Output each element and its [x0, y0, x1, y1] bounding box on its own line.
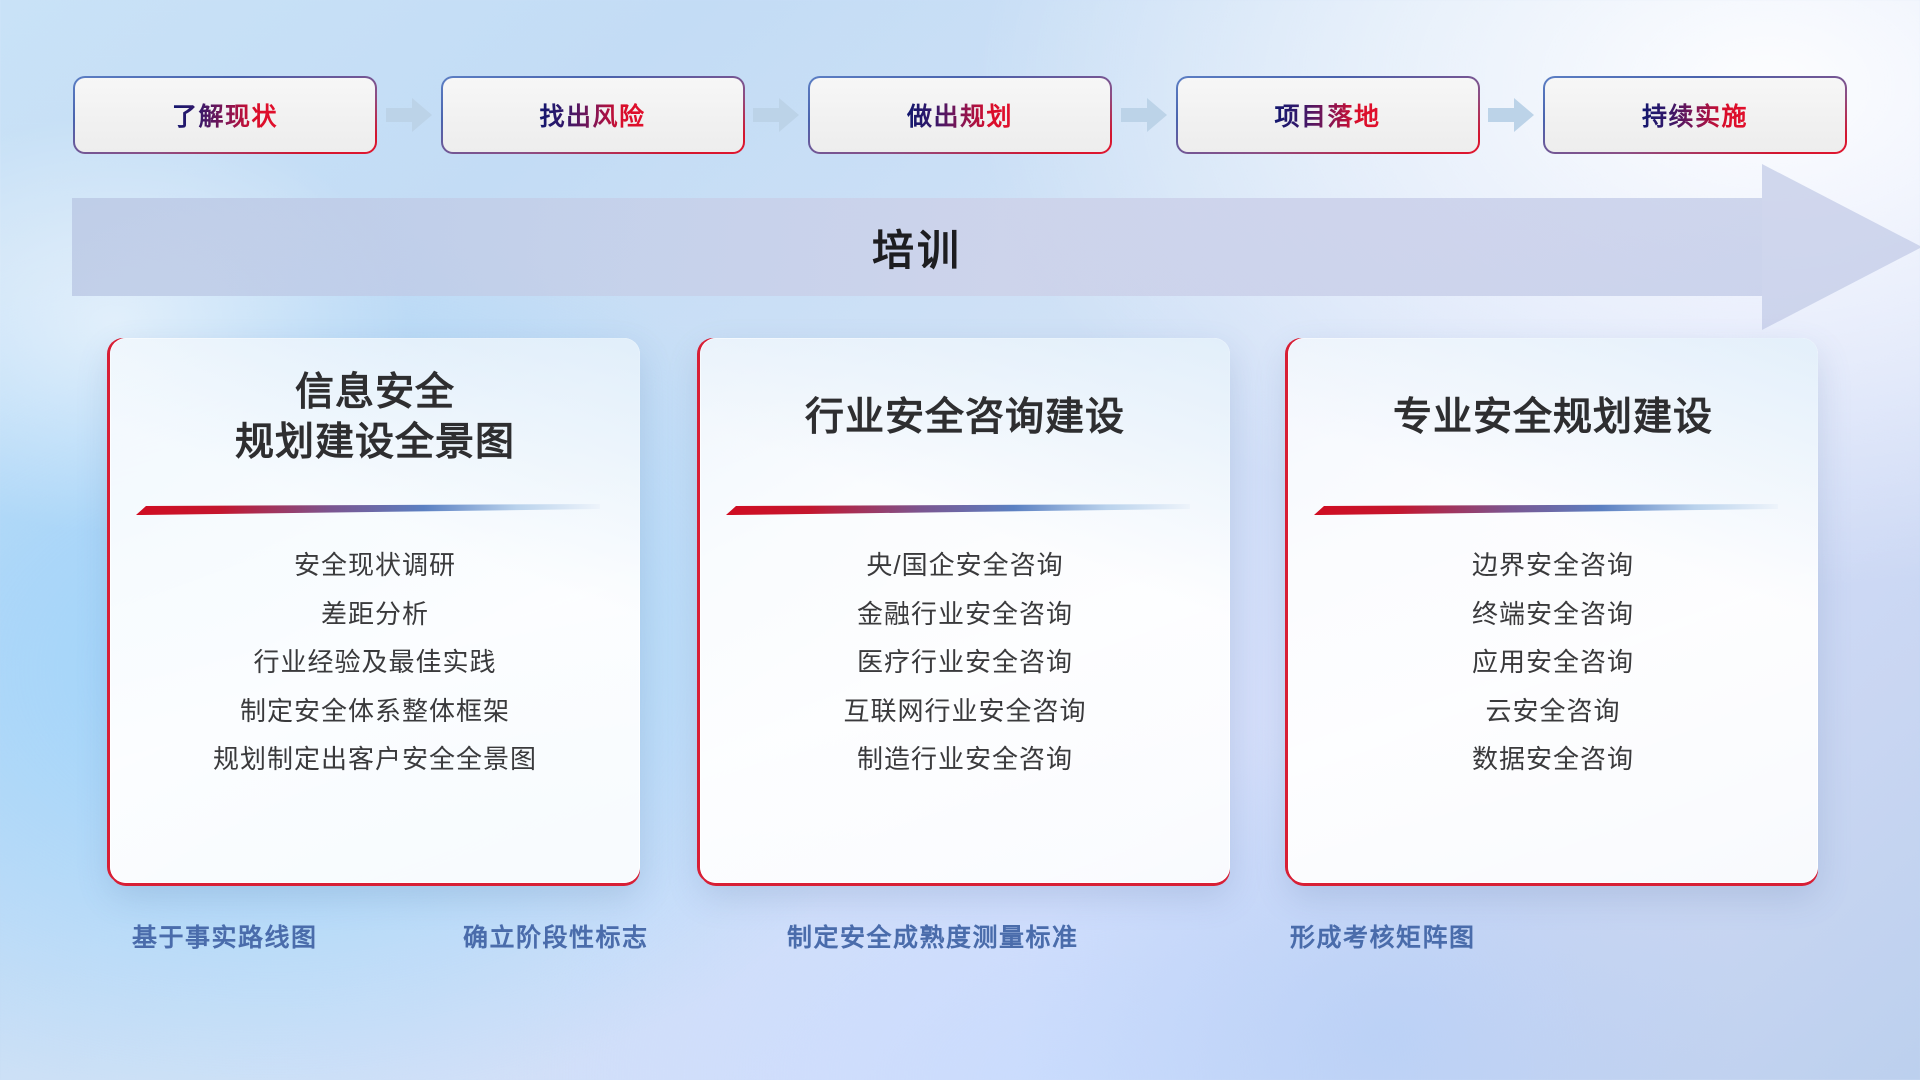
- card-3-list: 边界安全咨询 终端安全咨询 应用安全咨询 云安全咨询 数据安全咨询: [1288, 549, 1818, 776]
- banner-arrowhead-icon: [1762, 164, 1920, 330]
- card-industry-security-consulting[interactable]: 行业安全咨询建设 央/国企安全咨询 金融行业安全咨询: [700, 338, 1230, 883]
- caption-phase-milestones: 确立阶段性标志: [463, 918, 649, 954]
- caption-fact-based-roadmap: 基于事实路线图: [132, 918, 318, 954]
- card-professional-security-planning[interactable]: 专业安全规划建设 边界安全咨询 终端安全咨询: [1288, 338, 1818, 883]
- card-row: 信息安全 规划建设全景图 安全现状调研 差距分析: [0, 338, 1920, 883]
- card-3-item-4: 云安全咨询: [1485, 695, 1620, 728]
- process-step-5-label: 持续实施: [1642, 97, 1748, 133]
- card-1-item-2: 差距分析: [321, 598, 429, 631]
- card-1-header: 信息安全 规划建设全景图: [110, 338, 640, 498]
- training-banner: 培训: [72, 198, 1852, 296]
- card-2-item-2: 金融行业安全咨询: [857, 598, 1073, 631]
- process-step-2-label: 找出风险: [539, 97, 645, 133]
- process-step-4-label: 项目落地: [1274, 97, 1380, 133]
- process-step-4[interactable]: 项目落地: [1178, 78, 1478, 152]
- process-step-3-label: 做出规划: [907, 97, 1013, 133]
- card-1-list: 安全现状调研 差距分析 行业经验及最佳实践 制定安全体系整体框架 规划制定出客户…: [110, 549, 640, 776]
- card-2-header: 行业安全咨询建设: [700, 338, 1230, 498]
- card-2-item-4: 互联网行业安全咨询: [843, 695, 1086, 728]
- card-1-item-5: 规划制定出客户安全全景图: [213, 743, 537, 776]
- caption-row: 基于事实路线图 确立阶段性标志 制定安全成熟度测量标准 形成考核矩阵图: [0, 918, 1920, 968]
- card-1-item-3: 行业经验及最佳实践: [253, 646, 496, 679]
- card-2-item-5: 制造行业安全咨询: [857, 743, 1073, 776]
- card-2-divider: [726, 504, 1190, 515]
- process-step-5[interactable]: 持续实施: [1545, 78, 1845, 152]
- process-arrow-3: [1110, 98, 1178, 132]
- banner-title: 培训: [72, 198, 1762, 296]
- card-3-item-5: 数据安全咨询: [1472, 743, 1634, 776]
- card-1-divider: [136, 504, 600, 515]
- process-arrow-1: [375, 98, 443, 132]
- process-arrow-4: [1478, 98, 1546, 132]
- card-3-item-1: 边界安全咨询: [1472, 549, 1634, 582]
- card-2-title: 行业安全咨询建设: [805, 393, 1125, 443]
- card-2-item-3: 医疗行业安全咨询: [857, 646, 1073, 679]
- process-step-2[interactable]: 找出风险: [443, 78, 743, 152]
- card-2-item-1: 央/国企安全咨询: [866, 549, 1063, 582]
- card-1-item-1: 安全现状调研: [294, 549, 456, 582]
- card-3-item-3: 应用安全咨询: [1472, 646, 1634, 679]
- caption-maturity-standard: 制定安全成熟度测量标准: [787, 918, 1079, 954]
- card-3-item-2: 终端安全咨询: [1472, 598, 1634, 631]
- card-3-divider: [1314, 504, 1778, 515]
- card-3-title: 专业安全规划建设: [1393, 393, 1713, 443]
- card-2-list: 央/国企安全咨询 金融行业安全咨询 医疗行业安全咨询 互联网行业安全咨询 制造行…: [700, 549, 1230, 776]
- process-step-1[interactable]: 了解现状: [75, 78, 375, 152]
- card-1-item-4: 制定安全体系整体框架: [240, 695, 510, 728]
- process-step-row: 了解现状 找出风险 做出规划 项目落地 持续实施: [75, 78, 1845, 152]
- card-3-header: 专业安全规划建设: [1288, 338, 1818, 498]
- card-1-title: 信息安全 规划建设全景图: [235, 368, 515, 468]
- card-information-security-blueprint[interactable]: 信息安全 规划建设全景图 安全现状调研 差距分析: [110, 338, 640, 883]
- process-step-3[interactable]: 做出规划: [810, 78, 1110, 152]
- process-arrow-2: [743, 98, 811, 132]
- process-step-1-label: 了解现状: [172, 97, 278, 133]
- caption-assessment-matrix: 形成考核矩阵图: [1290, 918, 1476, 954]
